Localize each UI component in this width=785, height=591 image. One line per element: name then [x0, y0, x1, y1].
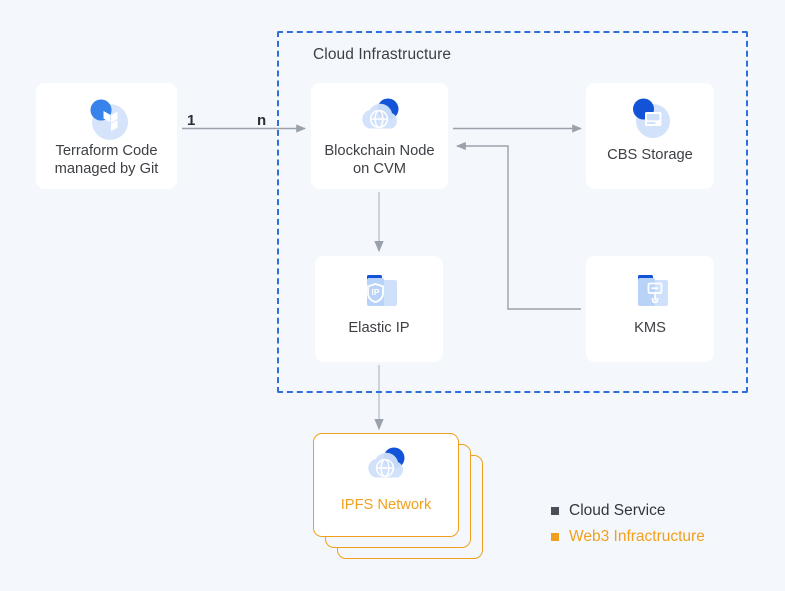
svg-text:IP: IP: [372, 287, 380, 297]
legend-label: Cloud Service: [569, 502, 666, 520]
legend-label: Web3 Infractructure: [569, 528, 705, 546]
architecture-diagram: Cloud Infrastructure 1 n Terraform Code …: [0, 0, 785, 591]
node-cbs-storage[interactable]: CBS Storage: [586, 83, 714, 189]
node-label: KMS: [586, 319, 714, 337]
legend-marker-square: [551, 507, 559, 515]
edge-label-cardinality-one: 1: [187, 112, 195, 129]
node-ipfs-network[interactable]: IPFS Network: [313, 433, 459, 537]
node-ipfs-network-stack[interactable]: IPFS Network: [313, 433, 483, 559]
legend: Cloud Service Web3 Infractructure: [551, 498, 751, 550]
node-label: Elastic IP: [315, 319, 443, 337]
cloud-infrastructure-title: Cloud Infrastructure: [313, 46, 451, 64]
legend-item-web3-infrastructure: Web3 Infractructure: [551, 524, 751, 550]
edge-label-cardinality-n: n: [257, 112, 266, 129]
cloud-disk-icon: [624, 95, 676, 143]
node-label: IPFS Network: [314, 496, 458, 514]
node-label: Terraform Code managed by Git: [36, 142, 177, 178]
cloud-globe-icon: [360, 444, 412, 492]
key-icon: [624, 268, 676, 316]
node-terraform-code[interactable]: Terraform Code managed by Git: [36, 83, 177, 189]
terraform-icon: [81, 95, 133, 143]
node-elastic-ip[interactable]: IP Elastic IP: [315, 256, 443, 362]
node-label: Blockchain Node on CVM: [311, 142, 448, 178]
legend-marker-square: [551, 533, 559, 541]
shield-ip-icon: IP: [353, 268, 405, 316]
node-label: CBS Storage: [586, 146, 714, 164]
node-kms[interactable]: KMS: [586, 256, 714, 362]
legend-item-cloud-service: Cloud Service: [551, 498, 751, 524]
node-blockchain-node-on-cvm[interactable]: Blockchain Node on CVM: [311, 83, 448, 189]
cloud-globe-icon: [354, 95, 406, 143]
